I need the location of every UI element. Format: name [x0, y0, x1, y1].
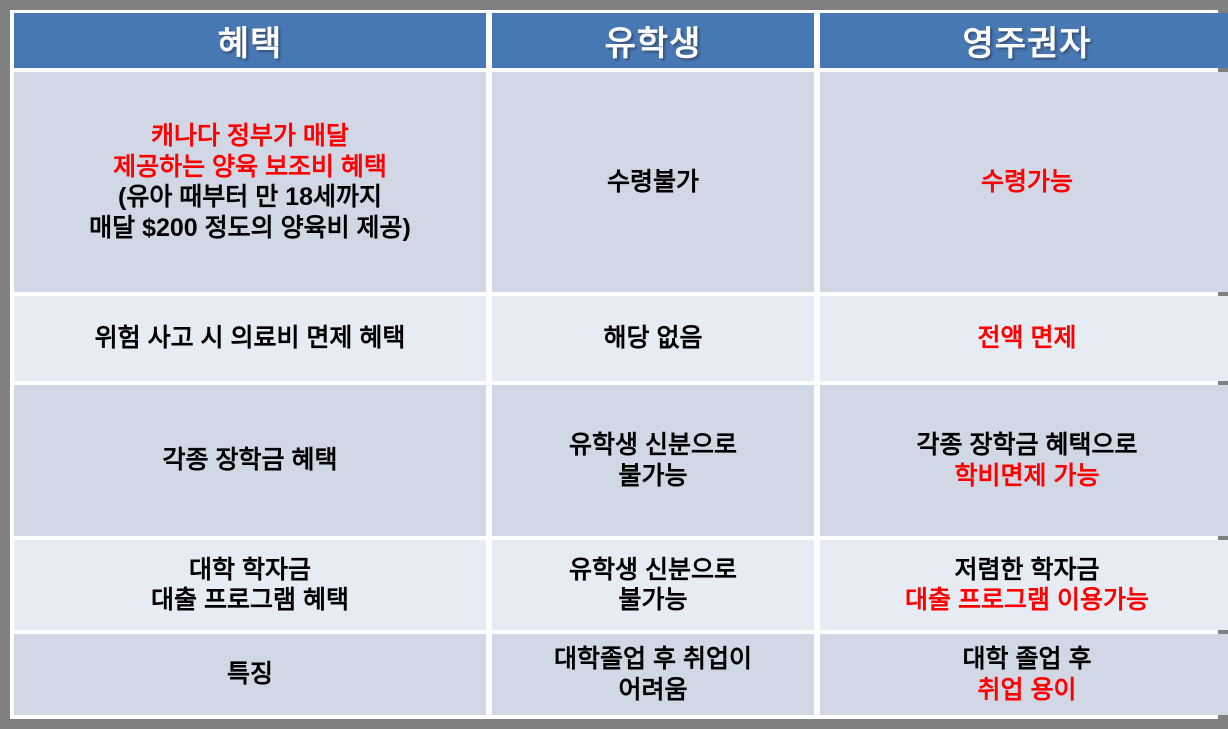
text-line: 학비면제 가능: [917, 461, 1138, 492]
table-header-row: 혜택 유학생 영주권자: [10, 13, 1218, 68]
text-line: 수령가능: [981, 167, 1073, 198]
cell-text: 유학생 신분으로불가능: [569, 430, 737, 491]
cell-text: 대학졸업 후 취업이어려움: [554, 644, 752, 705]
text-line: 유학생 신분으로: [569, 555, 737, 586]
cell-benefit: 위험 사고 시 의료비 면제 혜택: [14, 296, 486, 381]
cell-student: 유학생 신분으로불가능: [492, 385, 814, 536]
cell-text: 위험 사고 시 의료비 면제 혜택: [95, 323, 406, 354]
text-line: 위험 사고 시 의료비 면제 혜택: [95, 323, 406, 354]
text-line: 각종 장학금 혜택: [163, 445, 338, 476]
text-line: 불가능: [569, 585, 737, 616]
text-line: 취업 용이: [963, 675, 1092, 706]
table-row: 특징대학졸업 후 취업이어려움대학 졸업 후취업 용이: [10, 634, 1218, 715]
text-line: 대학 학자금: [151, 555, 349, 586]
cell-student: 유학생 신분으로불가능: [492, 540, 814, 630]
cell-text: 해당 없음: [604, 323, 703, 354]
text-line: 각종 장학금 혜택으로: [917, 430, 1138, 461]
cell-text: 전액 면제: [978, 323, 1077, 354]
cell-benefit: 캐나다 정부가 매달제공하는 양육 보조비 혜택(유아 때부터 만 18세까지매…: [14, 72, 486, 292]
cell-resident: 각종 장학금 혜택으로학비면제 가능: [820, 385, 1228, 536]
table-row: 대학 학자금대출 프로그램 혜택유학생 신분으로불가능저렴한 학자금대출 프로그…: [10, 540, 1218, 630]
text-line: 대출 프로그램 혜택: [151, 585, 349, 616]
cell-text: 각종 장학금 혜택: [163, 445, 338, 476]
cell-student: 대학졸업 후 취업이어려움: [492, 634, 814, 715]
text-line: 불가능: [569, 461, 737, 492]
row-divider: [10, 715, 1218, 719]
cell-text: 유학생 신분으로불가능: [569, 555, 737, 616]
text-line: 어려움: [554, 675, 752, 706]
table-row: 각종 장학금 혜택유학생 신분으로불가능각종 장학금 혜택으로학비면제 가능: [10, 385, 1218, 536]
table-row: 위험 사고 시 의료비 면제 혜택해당 없음전액 면제: [10, 296, 1218, 381]
text-line: 수령불가: [607, 167, 699, 198]
text-line: 대학 졸업 후: [963, 644, 1092, 675]
cell-text: 대학 졸업 후취업 용이: [963, 644, 1092, 705]
text-line: (유아 때부터 만 18세까지: [89, 182, 411, 213]
cell-resident: 저렴한 학자금대출 프로그램 이용가능: [820, 540, 1228, 630]
cell-student: 해당 없음: [492, 296, 814, 381]
text-line: 유학생 신분으로: [569, 430, 737, 461]
text-line: 매달 $200 정도의 양육비 제공): [89, 213, 411, 244]
text-line: 대학졸업 후 취업이: [554, 644, 752, 675]
comparison-table: 혜택 유학생 영주권자 캐나다 정부가 매달제공하는 양육 보조비 혜택(유아 …: [10, 10, 1218, 719]
text-line: 전액 면제: [978, 323, 1077, 354]
text-line: 대출 프로그램 이용가능: [905, 585, 1149, 616]
text-line: 해당 없음: [604, 323, 703, 354]
cell-benefit: 각종 장학금 혜택: [14, 385, 486, 536]
cell-text: 캐나다 정부가 매달제공하는 양육 보조비 혜택(유아 때부터 만 18세까지매…: [89, 121, 411, 243]
text-line: 저렴한 학자금: [905, 555, 1149, 586]
cell-benefit: 대학 학자금대출 프로그램 혜택: [14, 540, 486, 630]
cell-text: 각종 장학금 혜택으로학비면제 가능: [917, 430, 1138, 491]
column-header-resident: 영주권자: [820, 13, 1228, 68]
column-header-benefit: 혜택: [14, 13, 486, 68]
text-line: 제공하는 양육 보조비 혜택: [89, 152, 411, 183]
cell-text: 수령가능: [981, 167, 1073, 198]
table-row: 캐나다 정부가 매달제공하는 양육 보조비 혜택(유아 때부터 만 18세까지매…: [10, 72, 1218, 292]
cell-text: 특징: [227, 659, 273, 690]
table-body: 캐나다 정부가 매달제공하는 양육 보조비 혜택(유아 때부터 만 18세까지매…: [10, 72, 1218, 719]
cell-resident: 대학 졸업 후취업 용이: [820, 634, 1228, 715]
cell-resident: 수령가능: [820, 72, 1228, 292]
cell-text: 수령불가: [607, 167, 699, 198]
cell-resident: 전액 면제: [820, 296, 1228, 381]
cell-student: 수령불가: [492, 72, 814, 292]
text-line: 캐나다 정부가 매달: [89, 121, 411, 152]
cell-text: 저렴한 학자금대출 프로그램 이용가능: [905, 555, 1149, 616]
cell-text: 대학 학자금대출 프로그램 혜택: [151, 555, 349, 616]
column-header-student: 유학생: [492, 13, 814, 68]
cell-benefit: 특징: [14, 634, 486, 715]
text-line: 특징: [227, 659, 273, 690]
